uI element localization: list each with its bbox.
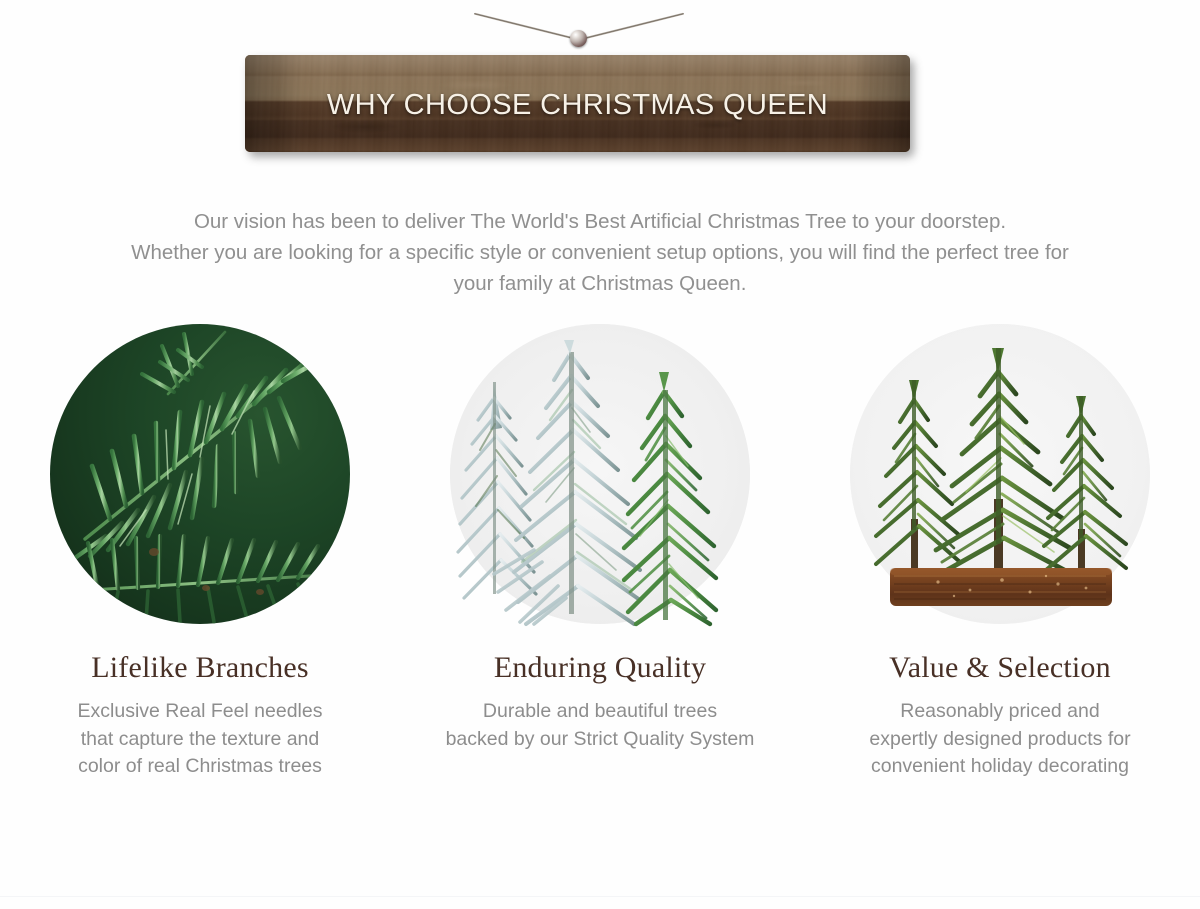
flocked-trees-art [450, 324, 750, 624]
feature-image-wrap-2 [450, 324, 750, 624]
features-row: Lifelike Branches Exclusive Real Feel ne… [0, 299, 1200, 781]
feature-desc-line-1c: color of real Christmas trees [78, 753, 323, 781]
feature-desc-line-3c: convenient holiday decorating [869, 753, 1130, 781]
green-tree-right [624, 372, 716, 624]
intro-line-2: Whether you are looking for a specific s… [80, 237, 1120, 268]
feature-title-1: Lifelike Branches [91, 651, 308, 685]
feature-description-1: Exclusive Real Feel needles that capture… [78, 698, 323, 781]
bottom-divider [0, 896, 1200, 897]
flocked-tree-center [514, 340, 640, 624]
feature-desc-line-2a: Durable and beautiful trees [446, 698, 755, 726]
hanging-wire-right-icon [582, 13, 684, 40]
feature-description-3: Reasonably priced and expertly designed … [869, 698, 1130, 781]
feature-column-lifelike-branches: Lifelike Branches Exclusive Real Feel ne… [0, 324, 400, 781]
intro-line-1: Our vision has been to deliver The World… [80, 206, 1120, 237]
feature-desc-line-1b: that capture the texture and [78, 726, 323, 754]
feature-desc-line-3a: Reasonably priced and [869, 698, 1130, 726]
feature-desc-line-3b: expertly designed products for [869, 726, 1130, 754]
feature-column-enduring-quality: Enduring Quality Durable and beautiful t… [400, 324, 800, 781]
feature-title-3: Value & Selection [889, 651, 1111, 685]
pine-needle-closeup-photo [50, 324, 350, 624]
wooden-sign-banner: WHY CHOOSE CHRISTMAS QUEEN [245, 55, 910, 152]
feature-image-wrap-1 [50, 324, 350, 624]
banner-title: WHY CHOOSE CHRISTMAS QUEEN [245, 55, 910, 152]
banner-section: WHY CHOOSE CHRISTMAS QUEEN [0, 0, 1200, 175]
feature-column-value-selection: Value & Selection Reasonably priced and … [800, 324, 1200, 781]
wooden-log-base [890, 568, 1112, 606]
hanging-wire-left-icon [474, 13, 576, 40]
feature-description-2: Durable and beautiful trees backed by ou… [446, 698, 755, 753]
feature-title-2: Enduring Quality [494, 651, 706, 685]
hanging-knob-icon [570, 30, 587, 47]
mini-trees-on-log-art [850, 324, 1150, 624]
feature-image-wrap-3 [850, 324, 1150, 624]
feature-desc-line-2b: backed by our Strict Quality System [446, 726, 755, 754]
feature-desc-line-1a: Exclusive Real Feel needles [78, 698, 323, 726]
intro-paragraph: Our vision has been to deliver The World… [80, 175, 1120, 299]
intro-line-3: your family at Christmas Queen. [80, 268, 1120, 299]
needle-branch-art [50, 324, 350, 624]
